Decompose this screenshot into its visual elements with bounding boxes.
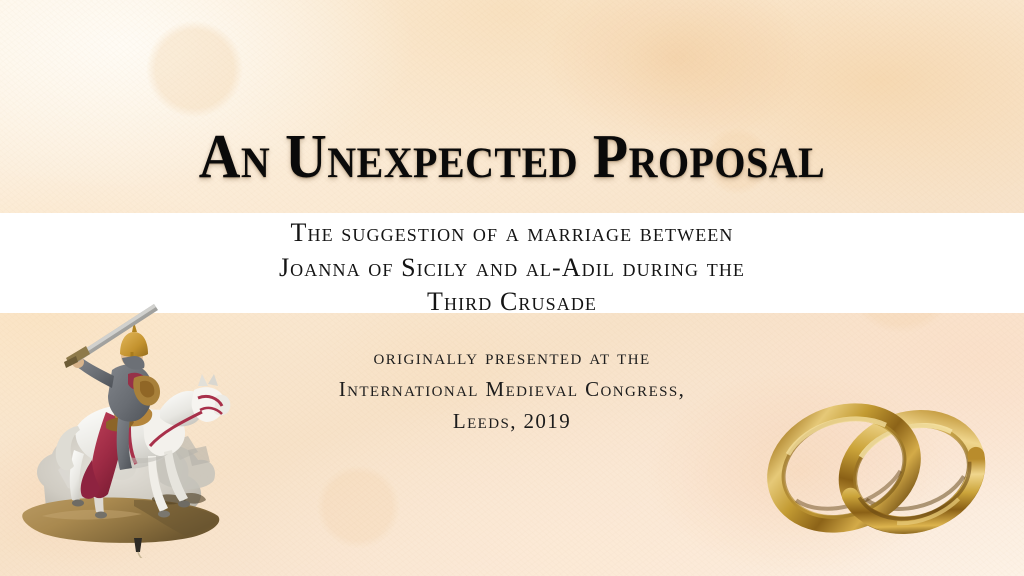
knight-sword: [64, 304, 158, 368]
slide-title: An Unexpected Proposal: [36, 126, 988, 188]
interlocking-wedding-rings: [752, 388, 1014, 548]
mounted-knight-illustration: [2, 300, 250, 558]
subtitle-line-2: Joanna of Sicily and al-Adil during the: [0, 251, 1024, 286]
subtitle-line-1: The suggestion of a marriage between: [0, 216, 1024, 251]
title-slide: An Unexpected Proposal The suggestion of…: [0, 0, 1024, 576]
